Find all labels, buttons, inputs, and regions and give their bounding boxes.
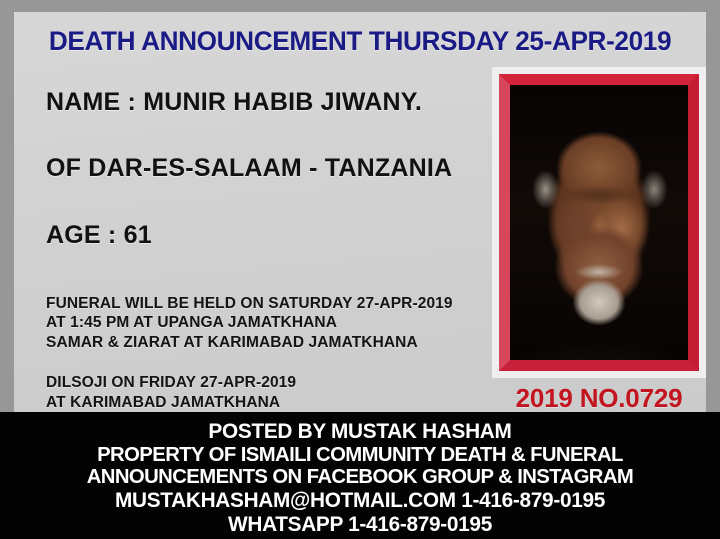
- funeral-line-3: SAMAR & ZIARAT AT KARIMABAD JAMATKHANA: [46, 333, 486, 352]
- footer-banner: POSTED BY MUSTAK HASHAM PROPERTY OF ISMA…: [0, 412, 720, 539]
- deceased-details: NAME : MUNIR HABIB JIWANY. OF DAR-ES-SAL…: [46, 82, 486, 412]
- dilsoji-line-2: AT KARIMABAD JAMATKHANA: [46, 393, 486, 412]
- death-announcement-poster: DEATH ANNOUNCEMENT THURSDAY 25-APR-2019 …: [0, 0, 720, 539]
- footer-line-property-of: PROPERTY OF ISMAILI COMMUNITY DEATH & FU…: [4, 444, 717, 467]
- dilsoji-details-block: DILSOJI ON FRIDAY 27-APR-2019 AT KARIMAB…: [46, 373, 486, 412]
- footer-line-whatsapp: WHATSAPP 1-416-879-0195: [4, 513, 717, 537]
- deceased-origin-line: OF DAR-ES-SALAAM - TANZANIA: [46, 156, 486, 181]
- footer-line-email-phone: MUSTAKHASHAM@HOTMAIL.COM 1-416-879-0195: [4, 489, 717, 513]
- funeral-details-block: FUNERAL WILL BE HELD ON SATURDAY 27-APR-…: [46, 294, 486, 352]
- portrait-red-border: [499, 74, 699, 371]
- reference-number: 2019 NO.0729: [492, 383, 706, 414]
- portrait-photo: [510, 85, 688, 360]
- footer-line-announcements: ANNOUNCEMENTS ON FACEBOOK GROUP & INSTAG…: [4, 466, 717, 489]
- portrait-frame: [492, 67, 706, 378]
- footer-line-posted-by: POSTED BY MUSTAK HASHAM: [4, 420, 717, 444]
- deceased-name-line: NAME : MUNIR HABIB JIWANY.: [46, 90, 486, 115]
- page-title: DEATH ANNOUNCEMENT THURSDAY 25-APR-2019: [24, 26, 695, 57]
- announcement-card: DEATH ANNOUNCEMENT THURSDAY 25-APR-2019 …: [14, 12, 706, 412]
- funeral-line-1: FUNERAL WILL BE HELD ON SATURDAY 27-APR-…: [46, 294, 486, 313]
- deceased-age-line: AGE : 61: [46, 223, 486, 248]
- dilsoji-line-1: DILSOJI ON FRIDAY 27-APR-2019: [46, 373, 486, 392]
- funeral-line-2: AT 1:45 PM AT UPANGA JAMATKHANA: [46, 313, 486, 332]
